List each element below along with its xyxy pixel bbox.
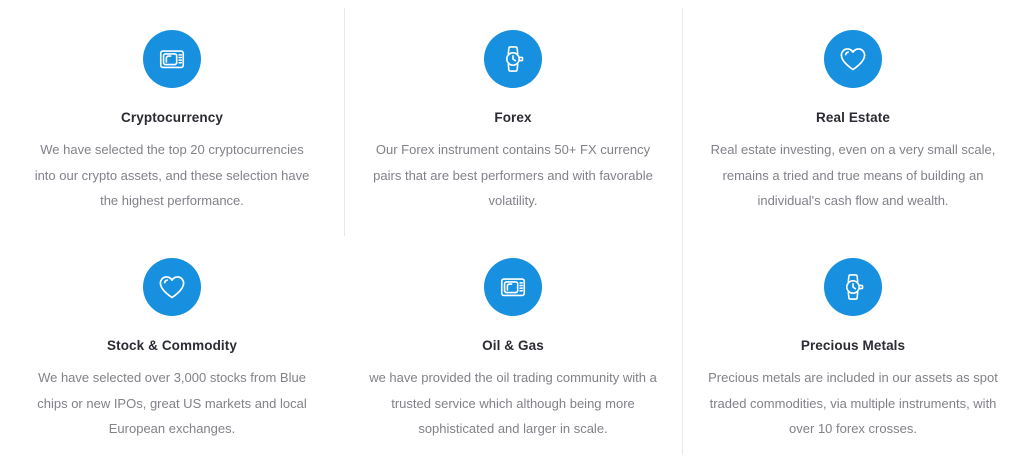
feature-card-precious-metals[interactable]: Precious Metals Precious metals are incl… [682,232,1024,463]
feature-card-description: Our Forex instrument contains 50+ FX cur… [367,137,659,213]
feature-card-title: Cryptocurrency [121,110,223,126]
heart-icon [824,30,882,88]
feature-card-title: Real Estate [816,110,890,126]
feature-card-description: we have provided the oil trading communi… [367,365,659,441]
monitor-chart-icon [484,258,542,316]
feature-card-cryptocurrency[interactable]: Cryptocurrency We have selected the top … [0,0,344,232]
wristwatch-icon [484,30,542,88]
feature-card-title: Forex [494,110,531,126]
feature-card-description: We have selected the top 20 cryptocurren… [30,137,315,213]
monitor-chart-icon [143,30,201,88]
feature-card-title: Oil & Gas [482,338,544,354]
feature-card-title: Stock & Commodity [107,338,237,354]
feature-card-real-estate[interactable]: Real Estate Real estate investing, even … [682,0,1024,232]
heart-icon [143,258,201,316]
feature-card-description: We have selected over 3,000 stocks from … [30,365,315,441]
feature-card-stock-commodity[interactable]: Stock & Commodity We have selected over … [0,232,344,463]
feature-card-title: Precious Metals [801,338,905,354]
wristwatch-icon [824,258,882,316]
feature-card-grid: Cryptocurrency We have selected the top … [0,0,1024,463]
asset-classes-feature-grid: Cryptocurrency We have selected the top … [0,0,1024,463]
feature-card-description: Precious metals are included in our asse… [707,365,999,441]
feature-card-description: Real estate investing, even on a very sm… [707,137,999,213]
feature-card-forex[interactable]: Forex Our Forex instrument contains 50+ … [344,0,682,232]
feature-card-oil-gas[interactable]: Oil & Gas we have provided the oil tradi… [344,232,682,463]
